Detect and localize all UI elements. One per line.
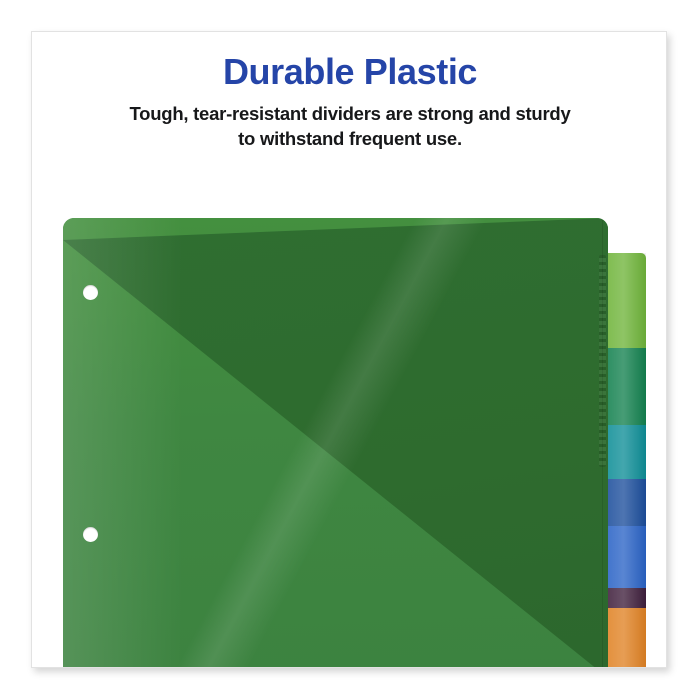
tab-navy — [605, 479, 646, 526]
tab-sheen — [605, 608, 646, 668]
page-subtitle-line-1: Tough, tear-resistant dividers are stron… — [60, 101, 640, 126]
bottom-hole — [83, 527, 98, 542]
tab-sheen — [605, 479, 646, 526]
reinforced-edge-strip — [599, 255, 606, 467]
top-hole — [83, 285, 98, 300]
index-tab-stack — [605, 253, 646, 668]
tab-dark-green — [605, 348, 646, 425]
tab-orange — [605, 608, 646, 668]
page-subtitle-line-2: to withstand frequent use. — [60, 126, 640, 151]
tab-blue — [605, 526, 646, 588]
page-title: Durable Plastic — [32, 50, 667, 94]
tab-sheen — [605, 526, 646, 588]
tab-sheen — [605, 588, 646, 608]
tab-teal — [605, 425, 646, 479]
green-divider-sheet — [63, 218, 608, 668]
tab-sheen — [605, 425, 646, 479]
headline-block: Durable Plastic Tough, tear-resistant di… — [32, 50, 667, 151]
product-image-card: Durable Plastic Tough, tear-resistant di… — [31, 31, 667, 668]
tab-purple — [605, 588, 646, 608]
tab-sheen — [605, 253, 646, 348]
page-subtitle: Tough, tear-resistant dividers are stron… — [60, 101, 640, 151]
tab-sheen — [605, 348, 646, 425]
tab-light-green — [605, 253, 646, 348]
product-photo — [32, 157, 667, 668]
screenshot-root: Durable Plastic Tough, tear-resistant di… — [0, 0, 700, 700]
